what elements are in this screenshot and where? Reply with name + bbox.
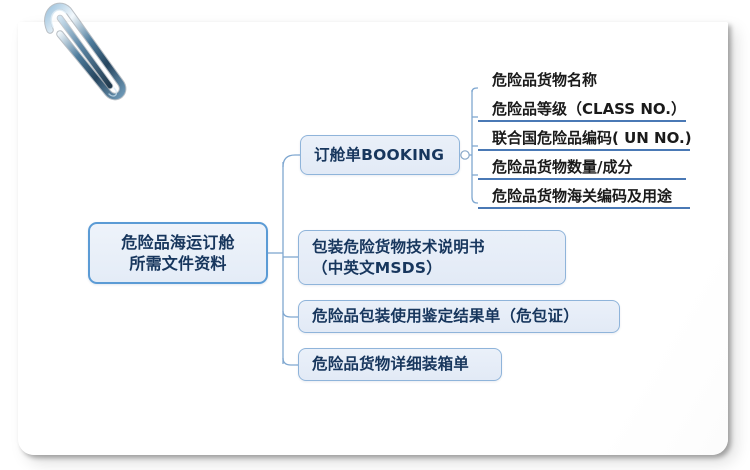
leaf-underline bbox=[478, 149, 690, 151]
mindmap-leaf-un-no-label: 联合国危险品编码( UN NO.) bbox=[492, 129, 692, 147]
mindmap-branch-msds-label: 包装危险货物技术说明书 （中英文MSDS） bbox=[312, 237, 485, 278]
mindmap-leaf-hs-code-label: 危险品货物海关编码及用途 bbox=[492, 187, 672, 205]
mindmap-leaf-cargo-name[interactable]: 危险品货物名称 bbox=[478, 70, 690, 93]
mindmap-leaf-un-no[interactable]: 联合国危险品编码( UN NO.) bbox=[478, 128, 696, 151]
mindmap-leaf-class-no[interactable]: 危险品等级（CLASS NO.） bbox=[478, 99, 690, 122]
mindmap-branch-msds[interactable]: 包装危险货物技术说明书 （中英文MSDS） bbox=[298, 230, 566, 285]
leaf-underline bbox=[478, 207, 690, 209]
mindmap-branch-package-cert-label: 危险品包装使用鉴定结果单（危包证） bbox=[312, 306, 579, 326]
screenshot-canvas: 危险品海运订舱 所需文件资料 订舱单BOOKING 包装危险货物技术说明书 （中… bbox=[0, 0, 750, 470]
mindmap-branch-booking[interactable]: 订舱单BOOKING bbox=[300, 135, 460, 175]
mindmap-leaf-quantity-label: 危险品货物数量/成分 bbox=[492, 158, 632, 176]
leaf-underline bbox=[478, 178, 686, 180]
mindmap-branch-packing-list-label: 危险品货物详细装箱单 bbox=[312, 354, 469, 374]
mindmap-branch-package-cert[interactable]: 危险品包装使用鉴定结果单（危包证） bbox=[298, 300, 620, 333]
mindmap-root-label: 危险品海运订舱 所需文件资料 bbox=[121, 232, 234, 274]
mindmap-branch-packing-list[interactable]: 危险品货物详细装箱单 bbox=[298, 348, 502, 381]
mindmap-leaf-quantity[interactable]: 危险品货物数量/成分 bbox=[478, 157, 690, 180]
mindmap-leaf-class-no-label: 危险品等级（CLASS NO.） bbox=[492, 100, 686, 118]
mindmap-root-node[interactable]: 危险品海运订舱 所需文件资料 bbox=[88, 222, 268, 284]
mindmap-leaf-hs-code[interactable]: 危险品货物海关编码及用途 bbox=[478, 186, 690, 209]
mindmap-leaf-cargo-name-label: 危险品货物名称 bbox=[492, 71, 597, 89]
leaf-underline bbox=[478, 120, 686, 122]
mindmap-branch-booking-label: 订舱单BOOKING bbox=[314, 145, 444, 165]
mindmap: 危险品海运订舱 所需文件资料 订舱单BOOKING 包装危险货物技术说明书 （中… bbox=[0, 0, 750, 470]
